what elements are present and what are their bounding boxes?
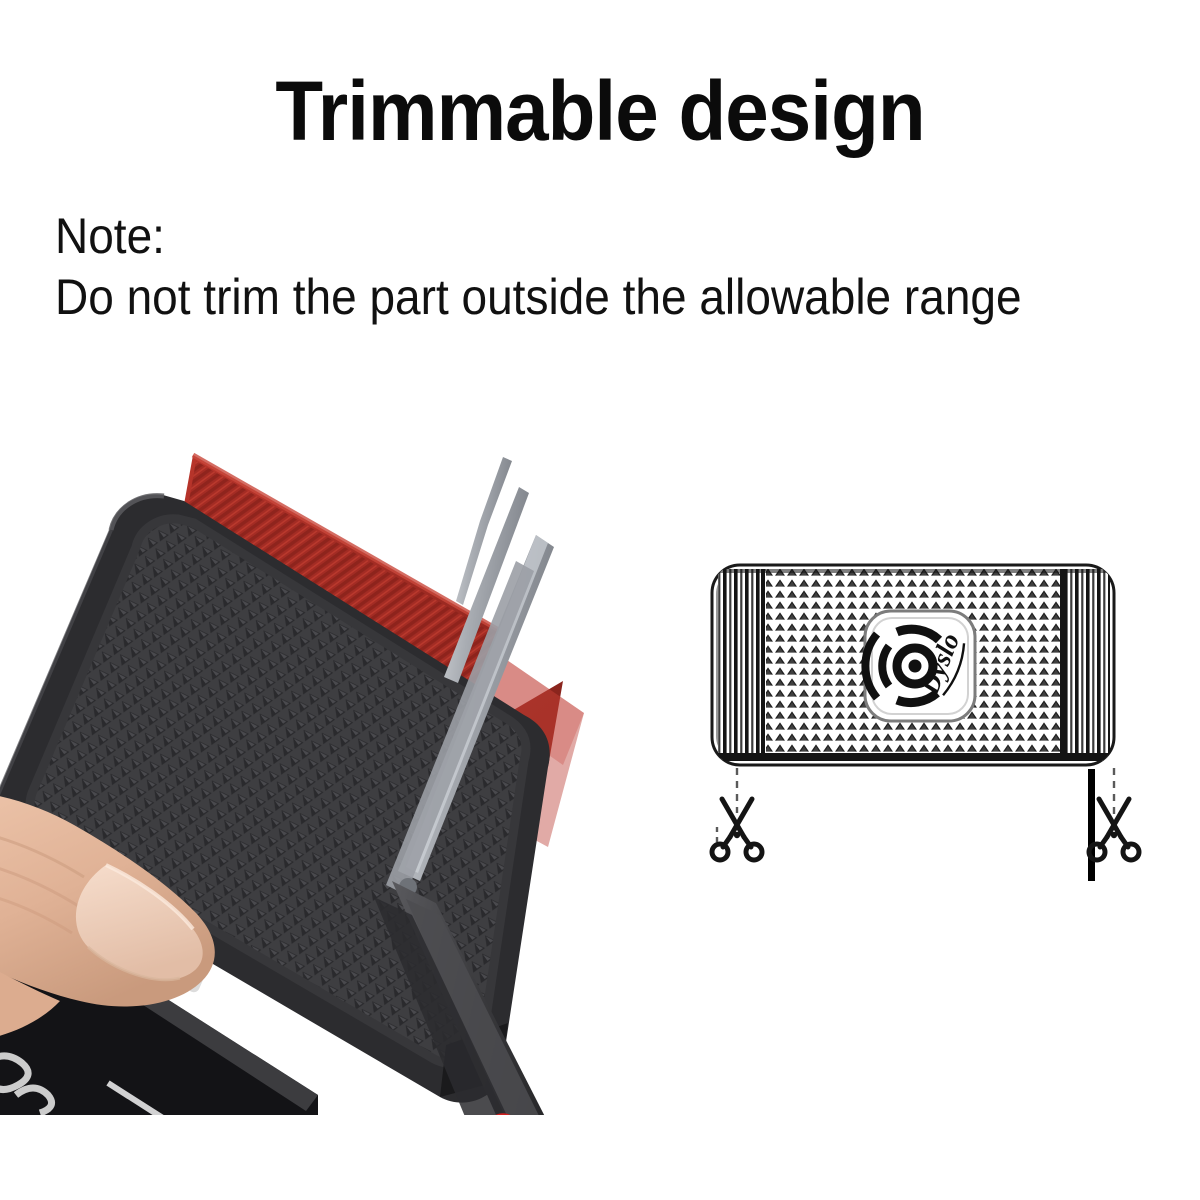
right-trim-band xyxy=(1064,569,1110,761)
diagram-logo-plaque: Dyslo xyxy=(865,611,975,721)
diagram-mat: Dyslo xyxy=(712,565,1114,765)
product-photo xyxy=(0,395,688,1115)
note-body: Do not trim the part outside the allowab… xyxy=(55,268,1022,326)
allowable-range-limit-bar xyxy=(1088,769,1095,881)
left-trim-band xyxy=(718,569,762,761)
trimmable-range-diagram: Dyslo xyxy=(690,545,1160,905)
note-label: Note: xyxy=(55,208,165,264)
infographic-page: Trimmable design Note: Do not trim the p… xyxy=(0,0,1200,1200)
diagram-illustration: Dyslo xyxy=(690,545,1160,905)
photo-illustration xyxy=(0,395,688,1115)
page-title: Trimmable design xyxy=(42,66,1158,156)
